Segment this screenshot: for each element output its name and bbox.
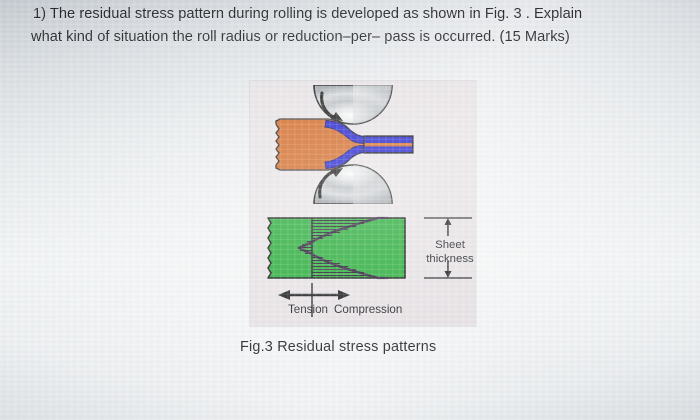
figure-caption: Fig.3 Residual stress patterns (240, 339, 436, 355)
question-line-2: what kind of situation the roll radius o… (31, 26, 681, 49)
compression-arrowhead (338, 290, 350, 300)
question-line-1: 1) The residual stress pattern during ro… (33, 3, 681, 26)
tension-label: Tension (288, 303, 328, 316)
upper-roll (314, 85, 392, 124)
figure-panel: Sheet thickness Tension Compression (250, 81, 476, 326)
rolling-process-diagram (250, 85, 476, 204)
sheet-thickness-label: Sheet thickness (426, 239, 474, 266)
question-text-block: 1) The residual stress pattern during ro… (33, 3, 681, 49)
compression-label: Compression (334, 303, 402, 316)
sheet-thickness-label-line1: Sheet (426, 239, 474, 253)
tension-arrowhead (278, 290, 290, 300)
lower-roll (314, 165, 392, 204)
scanned-page: 1) The residual stress pattern during ro… (0, 0, 700, 420)
sheet-thickness-label-line2: thickness (426, 253, 474, 267)
